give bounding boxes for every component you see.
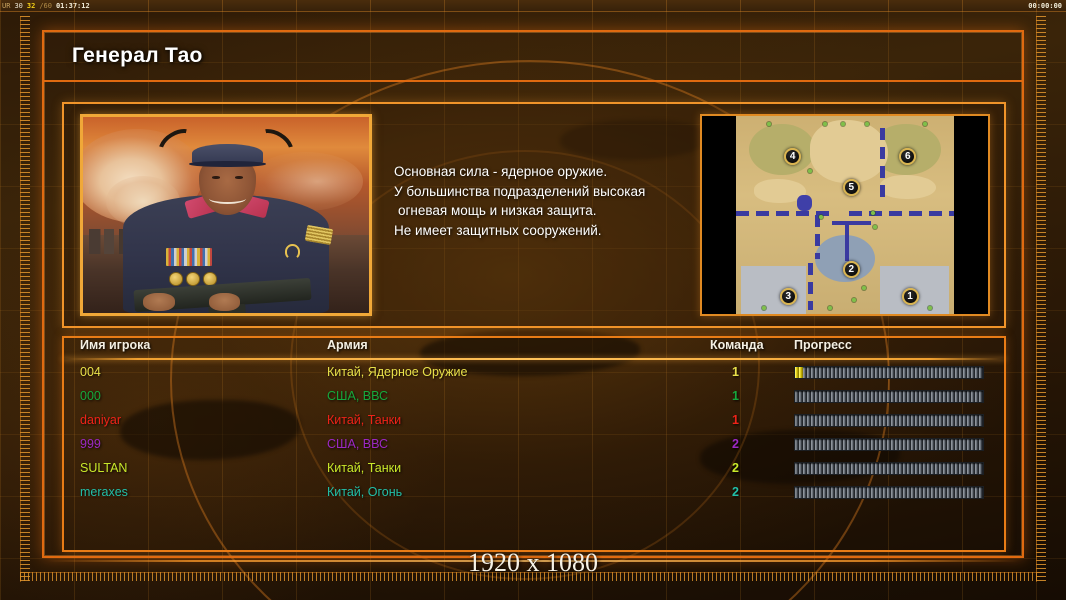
player-name: SULTAN xyxy=(80,461,127,475)
table-row[interactable]: 000США, ВВС1 xyxy=(62,386,1006,410)
general-info-panel: Основная сила - ядерное оружие. У больши… xyxy=(62,102,1006,328)
status-bar: UR 30 32 /60 01:37:12 xyxy=(0,0,1066,12)
resolution-label: 1920 x 1080 xyxy=(0,548,1066,578)
minimap-tree xyxy=(862,286,866,290)
player-team: 2 xyxy=(732,461,739,475)
minimap-tree xyxy=(819,215,823,219)
status-label: UR xyxy=(0,2,12,10)
player-progress-bar xyxy=(794,486,984,499)
minimap-road xyxy=(808,263,813,311)
start-position-label: 3 xyxy=(786,291,792,302)
minimap-sand xyxy=(810,120,888,183)
minimap-urban-zone xyxy=(741,266,806,314)
player-army: Китай, Танки xyxy=(327,461,401,475)
minimap-water xyxy=(797,195,812,211)
player-army: Китай, Танки xyxy=(327,413,401,427)
player-progress-bar xyxy=(794,462,984,475)
title-bar: Генерал Тао xyxy=(44,32,1022,82)
start-position-label: 4 xyxy=(790,151,796,162)
portrait-hand-left xyxy=(143,293,174,311)
table-body: 004Китай, Ядерное Оружие1000США, ВВС1dan… xyxy=(62,362,1006,506)
status-bar-ticks xyxy=(0,0,1066,12)
minimap-letterbox-left xyxy=(702,116,736,314)
column-header-team: Команда xyxy=(710,338,764,352)
status-timer: 00:00:00 xyxy=(1028,0,1062,12)
minimap-road xyxy=(849,211,953,216)
start-position-label: 1 xyxy=(907,291,913,302)
status-value-3: /60 xyxy=(37,2,54,10)
column-header-progress: Прогресс xyxy=(794,338,852,352)
minimap-sand xyxy=(880,175,937,199)
portrait-medal xyxy=(169,272,183,286)
player-name: 000 xyxy=(80,389,101,403)
player-progress-bar xyxy=(794,414,984,427)
minimap-start-position[interactable]: 3 xyxy=(780,288,797,305)
minimap-tree xyxy=(865,122,869,126)
minimap-start-position[interactable]: 2 xyxy=(843,261,860,278)
portrait-ribbon-bar xyxy=(166,248,212,266)
minimap-road xyxy=(880,128,885,199)
column-header-army: Армия xyxy=(327,338,368,352)
table-row[interactable]: 004Китай, Ядерное Оружие1 xyxy=(62,362,1006,386)
minimap-tree xyxy=(923,122,927,126)
player-team: 1 xyxy=(732,389,739,403)
page-title: Генерал Тао xyxy=(72,44,203,68)
table-row[interactable]: 999США, ВВС2 xyxy=(62,434,1006,458)
minimap-tree xyxy=(873,225,877,229)
minimap-tree xyxy=(852,298,856,302)
minimap-letterbox-right xyxy=(954,116,988,314)
game-lobby-screen: UR 30 32 /60 01:37:12 00:00:00 Генерал Т… xyxy=(0,0,1066,600)
column-header-player-name: Имя игрока xyxy=(80,338,150,352)
minimap-vegetation xyxy=(749,124,814,175)
general-portrait xyxy=(80,114,372,316)
player-name: 004 xyxy=(80,365,101,379)
player-progress-bar xyxy=(794,390,984,403)
table-row[interactable]: meraxesКитай, Огонь2 xyxy=(62,482,1006,506)
player-team: 2 xyxy=(732,485,739,499)
player-progress-bar xyxy=(794,366,984,379)
minimap-tree xyxy=(841,122,845,126)
start-position-label: 2 xyxy=(849,264,855,275)
status-value-2: 32 xyxy=(25,2,37,10)
player-progress-fill xyxy=(795,367,803,378)
player-name: meraxes xyxy=(80,485,128,499)
minimap-road xyxy=(815,215,820,259)
player-name: 999 xyxy=(80,437,101,451)
table-header-row: Имя игрока Армия Команда Прогресс xyxy=(62,336,1006,358)
minimap-terrain: 4 6 5 2 3 1 xyxy=(736,116,953,314)
player-army: Китай, Ядерное Оружие xyxy=(327,365,467,379)
status-clock: 01:37:12 xyxy=(54,2,92,10)
minimap-tree xyxy=(828,306,832,310)
player-progress-bar xyxy=(794,438,984,451)
minimap-river xyxy=(845,225,849,261)
player-team: 2 xyxy=(732,437,739,451)
player-army: США, ВВС xyxy=(327,389,388,403)
minimap-start-position[interactable]: 4 xyxy=(784,148,801,165)
table-row[interactable]: daniyarКитай, Танки1 xyxy=(62,410,1006,434)
player-army: Китай, Огонь xyxy=(327,485,402,499)
portrait-artwork xyxy=(83,117,369,313)
player-team: 1 xyxy=(732,365,739,379)
portrait-eye-left xyxy=(212,176,221,179)
minimap-tree xyxy=(808,169,812,173)
portrait-hand-right xyxy=(209,293,240,311)
status-value-1: 30 xyxy=(12,2,24,10)
table-header-divider xyxy=(62,358,1006,360)
table-row[interactable]: SULTANКитай, Танки2 xyxy=(62,458,1006,482)
portrait-eye-right xyxy=(235,176,244,179)
player-table: Имя игрока Армия Команда Прогресс 004Кит… xyxy=(62,336,1006,552)
portrait-medal xyxy=(186,272,200,286)
minimap-start-position[interactable]: 1 xyxy=(902,288,919,305)
minimap-start-position[interactable]: 5 xyxy=(843,179,860,196)
minimap-tree xyxy=(928,306,932,310)
player-team: 1 xyxy=(732,413,739,427)
player-name: daniyar xyxy=(80,413,121,427)
minimap[interactable]: 4 6 5 2 3 1 xyxy=(700,114,990,316)
player-army: США, ВВС xyxy=(327,437,388,451)
minimap-start-position[interactable]: 6 xyxy=(899,148,916,165)
minimap-river xyxy=(832,221,871,225)
minimap-tree xyxy=(767,122,771,126)
start-position-label: 6 xyxy=(905,151,911,162)
start-position-label: 5 xyxy=(849,182,855,193)
